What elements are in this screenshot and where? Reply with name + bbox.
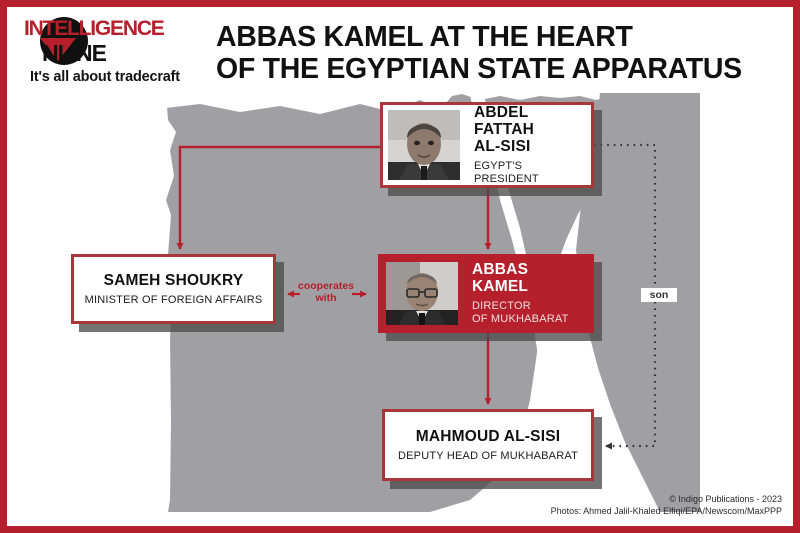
credits-copyright: © Indigo Publications - 2023 bbox=[551, 494, 782, 506]
node-role: DIRECTOR OF MUKHABARAT bbox=[472, 300, 569, 326]
node-body: ABBAS KAMEL DIRECTOR OF MUKHABARAT bbox=[378, 254, 594, 333]
portrait-abbas-kamel bbox=[386, 262, 458, 325]
credits-block: © Indigo Publications - 2023 Photos: Ahm… bbox=[551, 494, 782, 517]
node-body: MAHMOUD AL-SISI DEPUTY HEAD OF MUKHABARA… bbox=[382, 409, 594, 481]
node-text-block: SAMEH SHOUKRY MINISTER OF FOREIGN AFFAIR… bbox=[74, 257, 273, 321]
node-name: ABBAS KAMEL bbox=[472, 261, 583, 295]
edge-label-line-1: cooperates bbox=[296, 280, 356, 292]
node-role: MINISTER OF FOREIGN AFFAIRS bbox=[85, 294, 263, 307]
node-name: ABDEL FATTAH AL-SISI bbox=[474, 104, 583, 155]
node-role: EGYPT'S PRESIDENT bbox=[474, 160, 583, 186]
node-abbas-kamel[interactable]: ABBAS KAMEL DIRECTOR OF MUKHABARAT bbox=[378, 254, 594, 333]
node-text-block: ABBAS KAMEL DIRECTOR OF MUKHABARAT bbox=[458, 257, 591, 330]
node-body: ABDEL FATTAH AL-SISI EGYPT'S PRESIDENT bbox=[380, 102, 594, 188]
node-name: SAMEH SHOUKRY bbox=[104, 272, 244, 289]
edge-label-line-2: with bbox=[296, 292, 356, 304]
edge-sisi-to-shoukry bbox=[180, 147, 380, 249]
portrait-abdel-fattah-al-sisi bbox=[388, 110, 460, 180]
node-body: SAMEH SHOUKRY MINISTER OF FOREIGN AFFAIR… bbox=[71, 254, 276, 324]
node-role: DEPUTY HEAD OF MUKHABARAT bbox=[398, 450, 578, 463]
node-abdel-fattah-al-sisi[interactable]: ABDEL FATTAH AL-SISI EGYPT'S PRESIDENT bbox=[380, 102, 594, 188]
node-mahmoud-al-sisi[interactable]: MAHMOUD AL-SISI DEPUTY HEAD OF MUKHABARA… bbox=[382, 409, 594, 481]
edge-label-son: son bbox=[641, 288, 677, 302]
node-text-block: MAHMOUD AL-SISI DEPUTY HEAD OF MUKHABARA… bbox=[385, 412, 591, 478]
node-sameh-shoukry[interactable]: SAMEH SHOUKRY MINISTER OF FOREIGN AFFAIR… bbox=[71, 254, 276, 324]
node-name: MAHMOUD AL-SISI bbox=[416, 428, 561, 445]
node-text-block: ABDEL FATTAH AL-SISI EGYPT'S PRESIDENT bbox=[460, 105, 591, 185]
credits-photos: Photos: Ahmed Jalil-Khaled Elfiqi/EPA/Ne… bbox=[551, 506, 782, 518]
infographic-canvas: INTELLIGENCE NLINE It's all about tradec… bbox=[0, 0, 800, 533]
edge-label-cooperates-with: cooperates with bbox=[296, 280, 356, 304]
